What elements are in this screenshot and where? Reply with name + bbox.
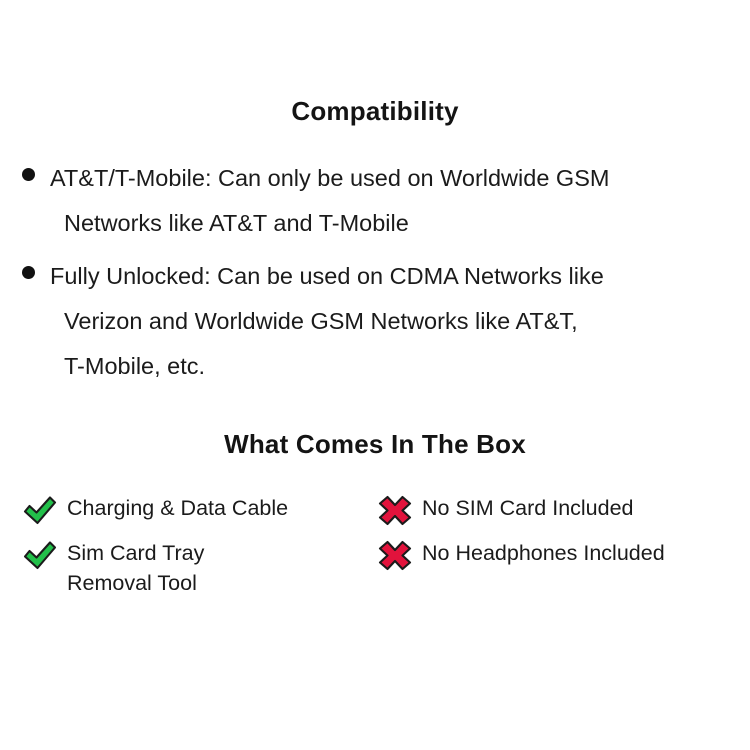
list-item: Charging & Data Cable: [22, 492, 372, 530]
list-item-text: Fully Unlocked: Can be used on CDMA Netw…: [50, 254, 750, 389]
list-item-line: Removal Tool: [67, 568, 204, 598]
list-item-line: Charging & Data Cable: [67, 496, 288, 520]
list-item-line: Networks like AT&T and T-Mobile: [50, 201, 750, 246]
list-item-text: AT&T/T-Mobile: Can only be used on World…: [50, 156, 750, 246]
list-item: Sim Card Tray Removal Tool: [22, 537, 372, 598]
not-included-column: No SIM Card Included No Headphones Inclu…: [372, 492, 750, 605]
compatibility-infographic: Compatibility AT&T/T-Mobile: Can only be…: [0, 0, 750, 750]
included-column: Charging & Data Cable Sim Card Tray Remo…: [0, 492, 372, 605]
list-item-line: T-Mobile, etc.: [50, 344, 750, 389]
box-contents-columns: Charging & Data Cable Sim Card Tray Remo…: [0, 492, 750, 605]
list-item: Fully Unlocked: Can be used on CDMA Netw…: [0, 254, 750, 389]
list-item-text: No SIM Card Included: [422, 492, 634, 523]
list-item-line: Fully Unlocked: Can be used on CDMA Netw…: [50, 263, 604, 289]
compatibility-heading: Compatibility: [0, 96, 750, 127]
list-item: AT&T/T-Mobile: Can only be used on World…: [0, 156, 750, 246]
list-item-text: No Headphones Included: [422, 537, 665, 568]
list-item-line: Sim Card Tray: [67, 541, 204, 565]
bullet-dot-icon: [22, 266, 35, 279]
red-cross-icon: [377, 494, 413, 527]
list-item: No SIM Card Included: [377, 492, 750, 530]
compatibility-list: AT&T/T-Mobile: Can only be used on World…: [0, 156, 750, 397]
list-item-text: Charging & Data Cable: [67, 492, 288, 523]
list-item-line: No SIM Card Included: [422, 496, 634, 520]
green-check-icon: [22, 539, 58, 572]
red-cross-icon: [377, 539, 413, 572]
bullet-dot-icon: [22, 168, 35, 181]
list-item-text: Sim Card Tray Removal Tool: [67, 537, 204, 598]
list-item-line: AT&T/T-Mobile: Can only be used on World…: [50, 165, 609, 191]
list-item-line: No Headphones Included: [422, 541, 665, 565]
list-item-line: Verizon and Worldwide GSM Networks like …: [50, 299, 750, 344]
green-check-icon: [22, 494, 58, 527]
list-item: No Headphones Included: [377, 537, 750, 575]
box-contents-heading: What Comes In The Box: [0, 429, 750, 460]
